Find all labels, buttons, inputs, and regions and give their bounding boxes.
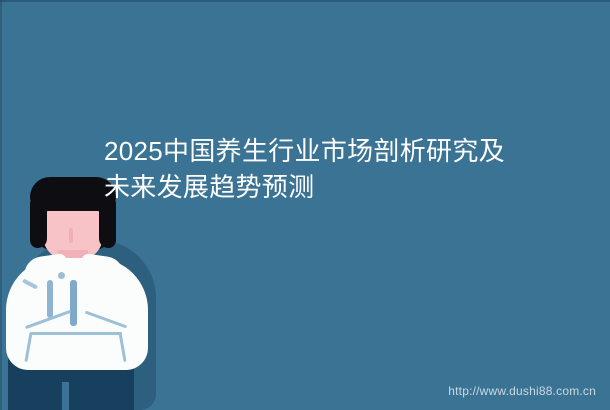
drawstring-right-shape — [70, 280, 77, 326]
leg-gap-shape — [62, 382, 69, 410]
hair-side-left-shape — [30, 196, 47, 248]
top-edge-border — [0, 0, 610, 2]
cover-headline: 2025中国养生行业市场剖析研究及未来发展趋势预测 — [104, 133, 524, 205]
article-cover-image: 2025中国养生行业市场剖析研究及未来发展趋势预测 http://www.dus… — [0, 0, 610, 410]
pocket-line-shape — [30, 332, 122, 335]
nose-shape — [69, 228, 73, 243]
drawstring-knot-shape — [58, 272, 65, 279]
drawstring-left-shape — [47, 280, 53, 318]
site-watermark: http://www.dushi88.com.cn — [448, 384, 596, 398]
